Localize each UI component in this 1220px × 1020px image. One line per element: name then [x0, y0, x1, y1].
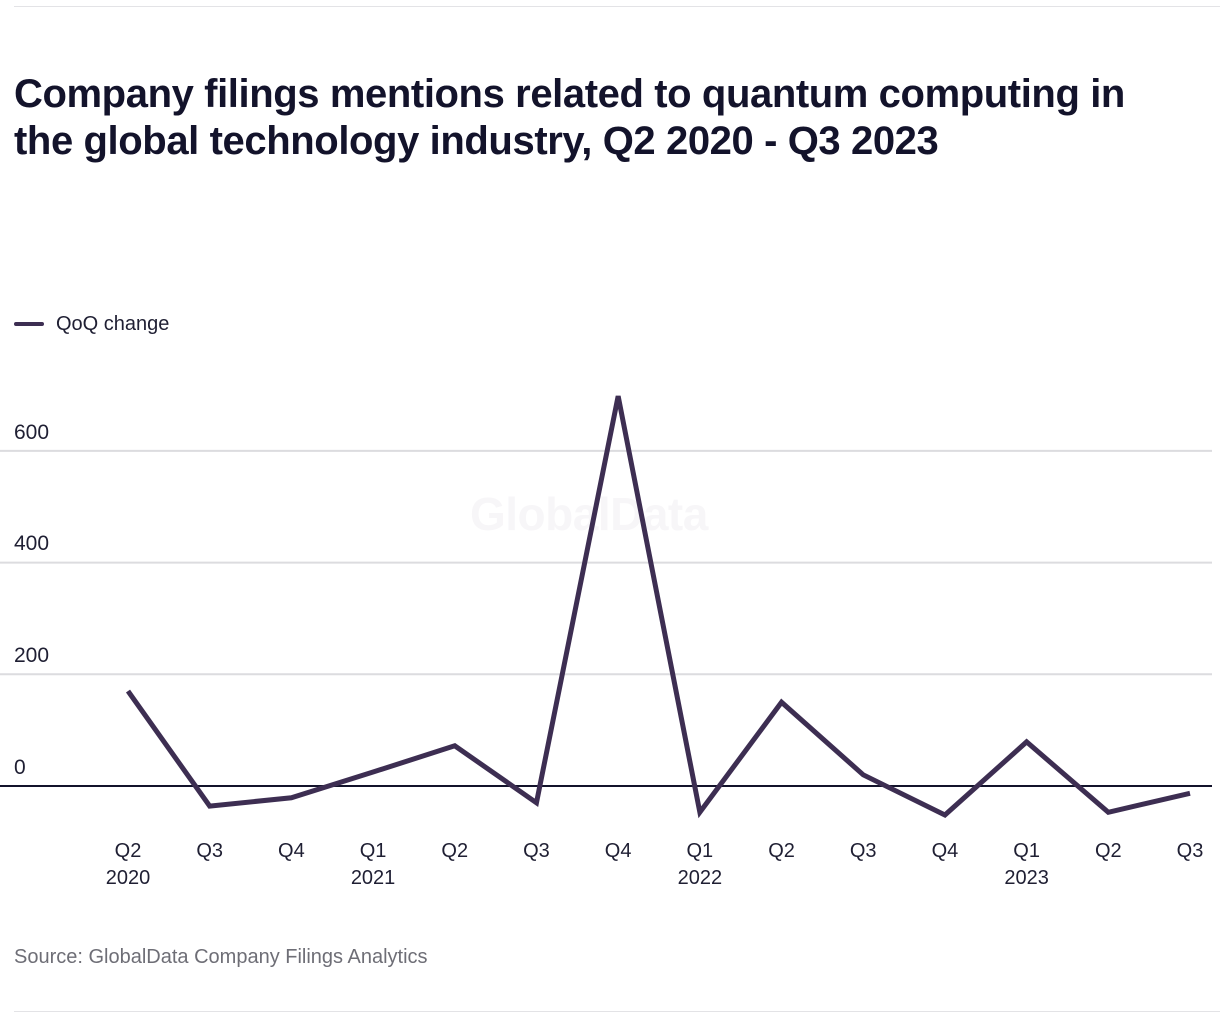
gridlines-group [0, 451, 1212, 674]
x-tick-q3-2023: Q3 [1177, 838, 1204, 864]
page-title: Company filings mentions related to quan… [14, 71, 1144, 165]
x-tick-q2-2022: Q2 [768, 838, 795, 864]
x-tick-quarter: Q1 [687, 840, 714, 862]
series-qoq-change [128, 396, 1190, 815]
x-tick-q4-2021: Q4 [605, 838, 632, 864]
x-tick-quarter: Q4 [278, 840, 305, 862]
x-tick-quarter: Q2 [115, 840, 142, 862]
x-tick-q3-2022: Q3 [850, 838, 877, 864]
x-tick-q4-2022: Q4 [932, 838, 959, 864]
x-tick-q4-2020: Q4 [278, 838, 305, 864]
source-note: Source: GlobalData Company Filings Analy… [14, 945, 428, 969]
x-axis-labels: Q22020Q3Q4Q12021Q2Q3Q4Q12022Q2Q3Q4Q12023… [0, 838, 1220, 908]
top-divider [14, 6, 1220, 7]
line-chart-plot-area [0, 380, 1220, 840]
x-tick-q3-2021: Q3 [523, 838, 550, 864]
x-tick-q1-2021: Q12021 [351, 838, 396, 892]
x-tick-quarter: Q1 [360, 840, 387, 862]
x-tick-year: 2021 [351, 864, 396, 892]
x-tick-quarter: Q3 [523, 840, 550, 862]
x-tick-quarter: Q3 [196, 840, 223, 862]
x-tick-q3-2020: Q3 [196, 838, 223, 864]
chart-page: Company filings mentions related to quan… [0, 0, 1220, 1020]
x-tick-quarter: Q4 [932, 840, 959, 862]
x-tick-q2-2023: Q2 [1095, 838, 1122, 864]
chart-svg [0, 380, 1220, 840]
x-tick-q1-2022: Q12022 [678, 838, 723, 892]
x-tick-q2-2021: Q2 [441, 838, 468, 864]
x-tick-quarter: Q2 [768, 840, 795, 862]
x-tick-q1-2023: Q12023 [1004, 838, 1049, 892]
x-tick-year: 2023 [1004, 864, 1049, 892]
series-line-0 [128, 396, 1190, 815]
bottom-divider [14, 1011, 1220, 1012]
x-tick-quarter: Q1 [1013, 840, 1040, 862]
x-tick-quarter: Q2 [1095, 840, 1122, 862]
x-tick-year: 2022 [678, 864, 723, 892]
x-tick-quarter: Q2 [441, 840, 468, 862]
x-tick-quarter: Q4 [605, 840, 632, 862]
x-tick-quarter: Q3 [1177, 840, 1204, 862]
x-tick-q2-2020: Q22020 [106, 838, 151, 892]
x-tick-year: 2020 [106, 864, 151, 892]
x-tick-quarter: Q3 [850, 840, 877, 862]
